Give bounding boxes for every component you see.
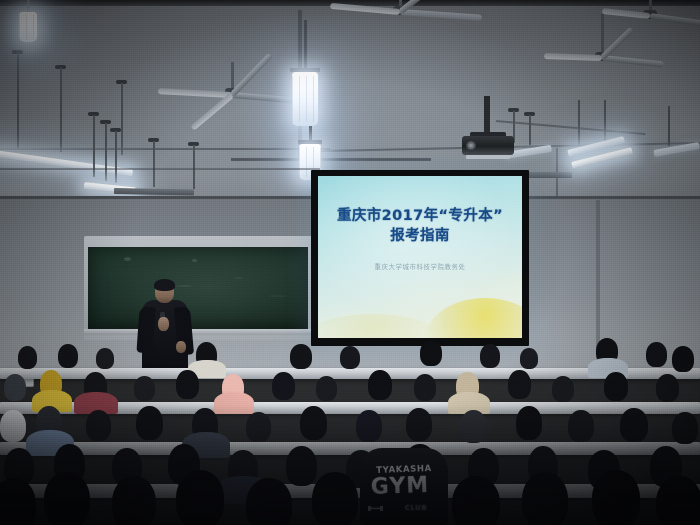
student-head xyxy=(516,406,542,440)
student-head xyxy=(620,408,648,442)
student-body xyxy=(214,392,254,414)
student-head xyxy=(58,344,78,368)
student-head xyxy=(406,408,432,441)
student-head xyxy=(356,410,382,442)
student-head xyxy=(340,346,360,369)
student-head xyxy=(452,476,500,525)
student-head xyxy=(0,410,26,442)
student-head xyxy=(290,344,312,369)
presenter-hand xyxy=(158,317,169,331)
lecture-hall-photo: 重庆市2017年“专升本” 报考指南 重庆大学城市科技学院教务处 xyxy=(0,0,700,525)
student-head xyxy=(312,472,358,525)
student-head xyxy=(656,374,679,402)
slide-subtitle: 重庆大学城市科技学院教务处 xyxy=(318,261,522,271)
student-head xyxy=(272,372,295,400)
light-rod xyxy=(105,123,107,181)
student-head xyxy=(18,346,37,369)
student-head xyxy=(136,406,163,440)
student-head xyxy=(246,478,292,525)
student-head xyxy=(44,472,90,525)
light-rod xyxy=(121,83,123,155)
student-head xyxy=(672,412,698,444)
student-head xyxy=(520,348,538,369)
student-head xyxy=(286,446,317,486)
student-head xyxy=(4,374,26,401)
student-head xyxy=(316,376,337,401)
light-rod xyxy=(578,100,580,146)
slide-title: 重庆市2017年“专升本” 报考指南 xyxy=(318,206,522,246)
ceiling-beam xyxy=(231,158,431,161)
light-rod xyxy=(668,106,670,146)
student-head xyxy=(86,410,111,441)
student-head xyxy=(522,472,568,525)
student-head xyxy=(508,370,531,399)
slide-title-line1: 重庆市2017年“专升本” xyxy=(318,206,522,226)
ceiling-conduit xyxy=(0,148,330,150)
slide-title-line2: 报考指南 xyxy=(318,226,522,246)
student-head xyxy=(672,346,694,372)
student-head xyxy=(134,376,155,401)
student-head xyxy=(176,470,224,525)
student-head xyxy=(552,376,574,402)
dumbbell-icon xyxy=(368,505,386,512)
student-head xyxy=(604,372,628,401)
light-rod xyxy=(115,131,117,183)
student-head xyxy=(414,374,436,401)
student-head xyxy=(246,412,271,442)
projector-base xyxy=(466,155,510,159)
student-head xyxy=(368,370,392,400)
light-rod xyxy=(193,145,195,189)
projection-screen: 重庆市2017年“专升本” 报考指南 重庆大学城市科技学院教务处 xyxy=(318,176,522,338)
student-head xyxy=(176,370,199,399)
student-head xyxy=(656,476,700,525)
light-rod xyxy=(529,115,531,145)
presenter-hair xyxy=(154,279,175,291)
light-rod xyxy=(153,141,155,187)
light-rod xyxy=(17,53,19,148)
student-head xyxy=(112,476,156,525)
student-head xyxy=(420,340,442,366)
projector-mount-pole xyxy=(484,96,490,136)
student-jacket: TYAKASHA GYM CLUB xyxy=(360,448,448,525)
student-head xyxy=(646,342,667,367)
chalkboard xyxy=(88,247,308,329)
jacket-text-line3: CLUB xyxy=(386,504,446,512)
pendant-lamp xyxy=(16,0,40,52)
light-rod xyxy=(60,68,62,152)
student-head xyxy=(460,410,487,443)
student-head xyxy=(592,470,640,525)
projector-lens-icon xyxy=(466,141,476,150)
pendant-lamp xyxy=(288,20,322,126)
student-head xyxy=(480,344,500,368)
audience xyxy=(0,330,700,525)
student-head xyxy=(568,410,594,442)
student-head xyxy=(300,406,327,440)
wall-seam xyxy=(0,168,320,170)
student-head xyxy=(96,348,114,369)
jacket-text-line2: GYM xyxy=(364,473,437,500)
